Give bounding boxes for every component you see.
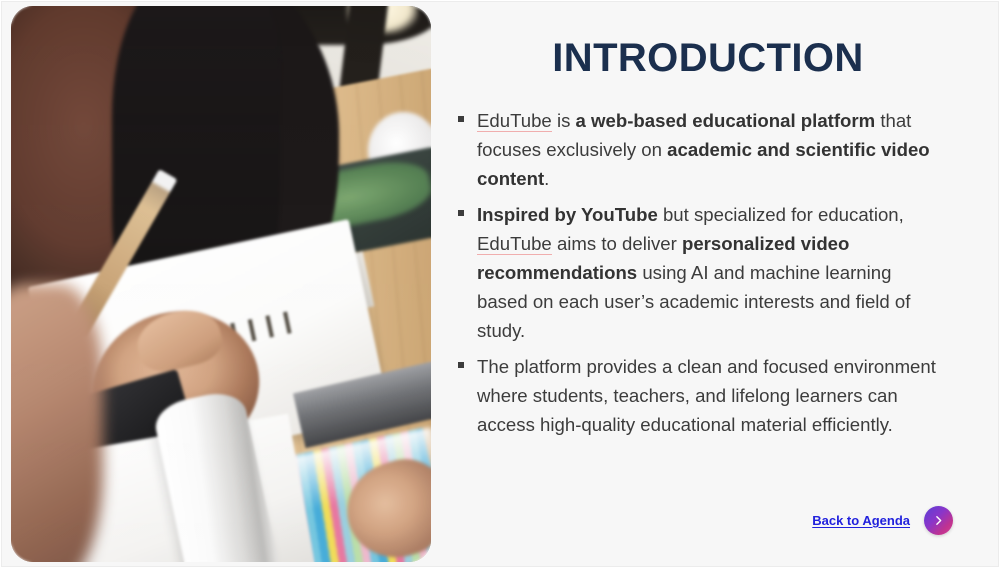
list-item: The platform provides a clean and focuse… [455, 352, 941, 439]
slide-footer: Back to Agenda [812, 506, 953, 535]
bullet-marker-icon [458, 210, 464, 216]
back-to-agenda-link[interactable]: Back to Agenda [812, 513, 910, 528]
chevron-right-icon [932, 514, 945, 527]
bullet-2-run-3: aims to deliver [552, 233, 682, 254]
bullet-1-run-1: is [552, 110, 576, 131]
bullet-marker-icon [458, 116, 464, 122]
intro-photo-card [11, 6, 431, 562]
desk-writing-photo [11, 6, 431, 562]
page-title: INTRODUCTION [453, 36, 963, 81]
bullet-list: EduTube is a web-based educational platf… [455, 106, 941, 446]
next-slide-button[interactable] [924, 506, 953, 535]
bullet-1-run-5: . [544, 168, 549, 189]
bullet-3-run-0: The platform provides a clean and focuse… [477, 356, 936, 435]
photo-soft-focus [11, 6, 431, 562]
bullet-1-run-2: a web-based educational platform [576, 110, 876, 131]
bullet-2-run-1: but specialized for education, [658, 204, 904, 225]
bullet-marker-icon [458, 362, 464, 368]
bullet-2-run-2: EduTube [477, 233, 552, 255]
bullet-1-run-0: EduTube [477, 110, 552, 132]
slide-content: INTRODUCTION EduTube is a web-based educ… [453, 1, 1000, 568]
list-item: Inspired by YouTube but specialized for … [455, 200, 941, 345]
bullet-2-run-0: Inspired by YouTube [477, 204, 658, 225]
list-item: EduTube is a web-based educational platf… [455, 106, 941, 193]
slide: INTRODUCTION EduTube is a web-based educ… [0, 0, 1000, 568]
